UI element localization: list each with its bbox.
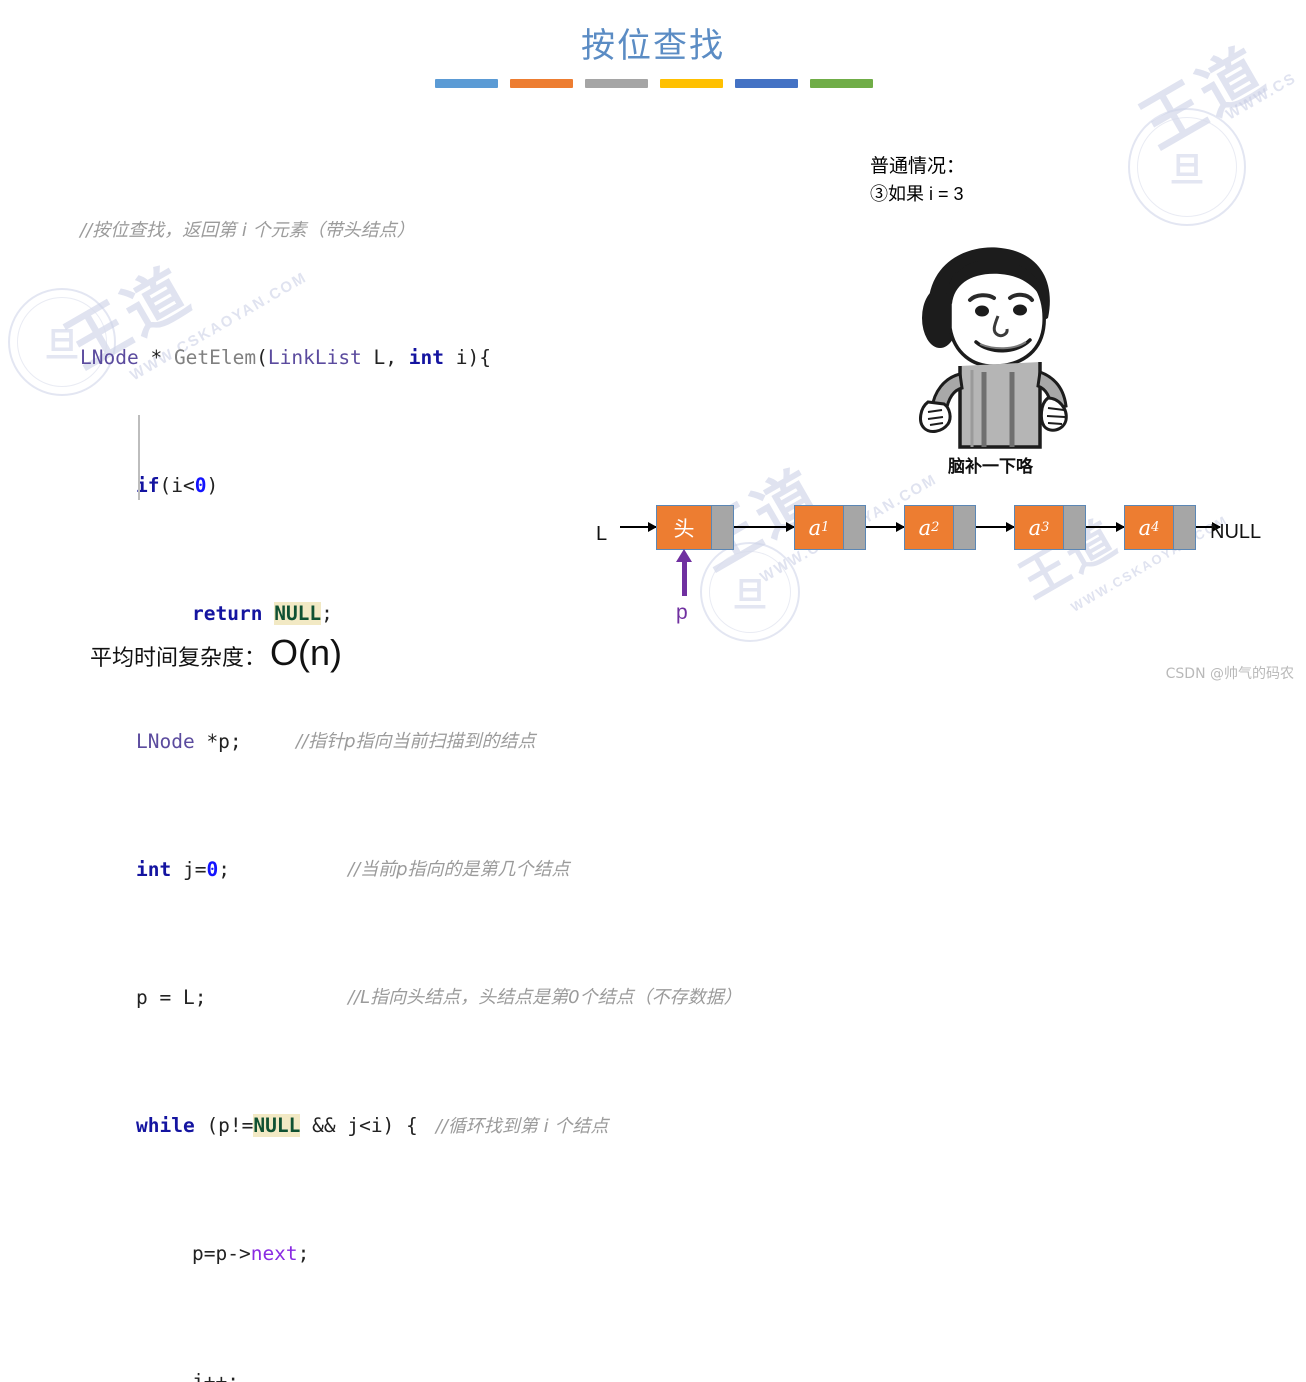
- arrow-L-to-head: [620, 526, 656, 528]
- watermark-url-top-right: WWW.CS: [1223, 69, 1300, 123]
- list-null-terminator: NULL: [1210, 521, 1261, 544]
- case-note-line-2: ③如果 i = 3: [870, 180, 965, 208]
- code-line-3: if(i<0): [80, 470, 608, 502]
- token-null-highlight: NULL: [274, 602, 321, 625]
- watermark-ring-inner-center: [709, 551, 791, 633]
- accent-bar-light-blue: [435, 79, 498, 88]
- time-complexity: 平均时间复杂度： O(n): [90, 632, 342, 674]
- code-line-5: LNode *p;//指针p指向当前扫描到的结点: [80, 726, 608, 758]
- arrow-head-to-a1: [734, 526, 794, 528]
- head-node-data: 头: [657, 506, 711, 549]
- token-next: next: [251, 1242, 298, 1265]
- indent-guide-line: [138, 415, 140, 500]
- token-semicolon: ;: [321, 602, 333, 625]
- code-comment-header: //按位查找，返回第 i 个元素（带头结点）: [80, 220, 415, 241]
- code-line-8: while (p!=NULL && j<i) {//循环找到第 i 个结点: [80, 1110, 608, 1142]
- accent-bar-blue: [735, 79, 798, 88]
- watermark-ring-center: 旦: [700, 542, 800, 642]
- page-title: 按位查找: [0, 18, 1306, 67]
- case-note: 普通情况： ③如果 i = 3: [870, 152, 965, 208]
- p-pointer-arrow-icon: [682, 561, 687, 596]
- token-p-eq-l: p = L;: [136, 986, 206, 1009]
- node-a4-pointer-field: [1173, 506, 1195, 549]
- token-cond-close: ): [206, 474, 218, 497]
- token-p-decl: *p;: [195, 730, 242, 753]
- node-a2-data: a2: [905, 506, 953, 549]
- csdn-watermark: CSDN @帅气的码农: [1166, 663, 1294, 683]
- token-j-assign: j=: [171, 858, 206, 881]
- node-a1-label: a: [809, 516, 822, 540]
- code-block: //按位查找，返回第 i 个元素（带头结点） LNode * GetElem(L…: [80, 150, 608, 1382]
- node-a4-data: a4: [1125, 506, 1173, 549]
- arrow-a1-to-a2: [866, 526, 904, 528]
- node-a3-index: 3: [1041, 520, 1049, 535]
- token-null-highlight-2: NULL: [253, 1114, 300, 1137]
- code-line-6: int j=0;//当前p指向的是第几个结点: [80, 854, 608, 886]
- watermark-ring-top-right: 旦: [1128, 108, 1246, 226]
- node-a2-pointer-field: [953, 506, 975, 549]
- code-line-7: p = L;//L指向头结点，头结点是第0个结点（不存数据）: [80, 982, 608, 1014]
- time-complexity-label: 平均时间复杂度：: [90, 640, 266, 672]
- token-while-cond-a: (p!=: [195, 1114, 254, 1137]
- node-a2: a2: [904, 505, 976, 550]
- token-sig-tail: i){: [444, 346, 491, 369]
- code-line-4: return NULL;: [80, 598, 608, 630]
- accent-bar-gray: [585, 79, 648, 88]
- code-line-1: //按位查找，返回第 i 个元素（带头结点）: [80, 214, 608, 246]
- token-cond-open: (i<: [159, 474, 194, 497]
- node-a2-index: 2: [931, 520, 939, 535]
- arrow-a2-to-a3: [976, 526, 1014, 528]
- token-j-inc: j++;: [192, 1370, 239, 1382]
- token-next-semi: ;: [298, 1242, 310, 1265]
- node-a4-label: a: [1139, 516, 1152, 540]
- code-comment-loop: //循环找到第 i 个结点: [436, 1116, 609, 1137]
- token-while: while: [136, 1114, 195, 1137]
- node-a1-data: a1: [795, 506, 843, 549]
- code-comment-j: //当前p指向的是第几个结点: [348, 854, 570, 886]
- token-p-next-a: p=p->: [192, 1242, 251, 1265]
- node-a4: a4: [1124, 505, 1196, 550]
- token-j-zero: 0: [206, 858, 218, 881]
- accent-bar-green: [810, 79, 873, 88]
- head-node: 头: [656, 505, 734, 550]
- node-a2-label: a: [919, 516, 932, 540]
- node-a1: a1: [794, 505, 866, 550]
- token-int: int: [409, 346, 444, 369]
- watermark-ring-glyph-center: 旦: [733, 568, 767, 617]
- token-getelem: GetElem: [174, 346, 256, 369]
- token-int-j: int: [136, 858, 171, 881]
- accent-bar-yellow: [660, 79, 723, 88]
- token-lnode: LNode: [80, 346, 139, 369]
- node-a3: a3: [1014, 505, 1086, 550]
- token-linklist: LinkList: [268, 346, 362, 369]
- meme-caption: 脑补一下咯: [898, 452, 1083, 477]
- accent-bar-orange: [510, 79, 573, 88]
- time-complexity-value: O(n): [270, 632, 342, 674]
- code-comment-l: //L指向头结点，头结点是第0个结点（不存数据）: [348, 982, 742, 1014]
- arrow-a3-to-a4: [1086, 526, 1124, 528]
- watermark-ring-inner: [1137, 117, 1237, 217]
- token-paren-open: (: [256, 346, 268, 369]
- code-comment-p: //指针p指向当前扫描到的结点: [296, 726, 536, 758]
- p-pointer-label: p: [676, 601, 688, 625]
- node-a4-index: 4: [1151, 520, 1159, 535]
- watermark-ring-glyph-left: 旦: [45, 318, 79, 367]
- code-line-9: p=p->next;: [80, 1238, 608, 1270]
- token-zero: 0: [195, 474, 207, 497]
- node-a3-pointer-field: [1063, 506, 1085, 549]
- token-param-l: L,: [362, 346, 409, 369]
- meme-illustration: [898, 232, 1083, 472]
- node-a1-index: 1: [821, 520, 829, 535]
- node-a3-data: a3: [1015, 506, 1063, 549]
- node-a3-label: a: [1029, 516, 1042, 540]
- list-head-pointer-label: L: [596, 523, 607, 546]
- token-star: *: [139, 346, 174, 369]
- code-line-10: j++;: [80, 1366, 608, 1382]
- title-accent-bars: [435, 79, 873, 88]
- head-node-pointer-field: [711, 506, 733, 549]
- node-a1-pointer-field: [843, 506, 865, 549]
- token-j-semi: ;: [218, 858, 230, 881]
- case-note-line-1: 普通情况：: [870, 152, 965, 180]
- token-return: return: [192, 602, 262, 625]
- token-while-cond-b: && j<i) {: [300, 1114, 417, 1137]
- token-lnode-decl: LNode: [136, 730, 195, 753]
- watermark-ring-glyph: 旦: [1170, 143, 1204, 192]
- code-line-2: LNode * GetElem(LinkList L, int i){: [80, 342, 608, 374]
